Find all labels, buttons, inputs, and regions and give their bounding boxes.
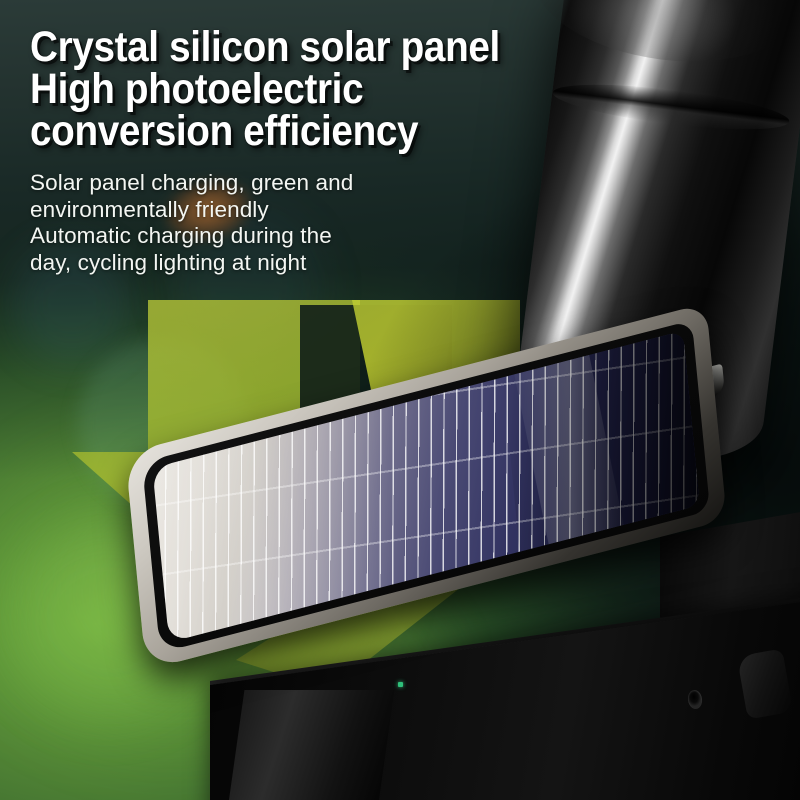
subtitle: Solar panel charging, green and environm… — [30, 170, 800, 276]
solar-panel-group — [146, 455, 786, 715]
headline-line-3: conversion efficiency — [30, 110, 723, 152]
page-title: Crystal silicon solar panel High photoel… — [30, 26, 723, 152]
subtitle-line-4: day, cycling lighting at night — [30, 250, 800, 277]
subtitle-line-3: Automatic charging during the — [30, 223, 800, 250]
subtitle-line-2: environmentally friendly — [30, 197, 800, 224]
promo-copy-block: Crystal silicon solar panel High photoel… — [0, 0, 800, 277]
headline-line-1: Crystal silicon solar panel — [30, 26, 723, 68]
headline-line-2: High photoelectric — [30, 68, 723, 110]
led-indicator — [398, 682, 403, 687]
solar-lamp-promo-banner: Crystal silicon solar panel High photoel… — [0, 0, 800, 800]
subtitle-line-1: Solar panel charging, green and — [30, 170, 800, 197]
